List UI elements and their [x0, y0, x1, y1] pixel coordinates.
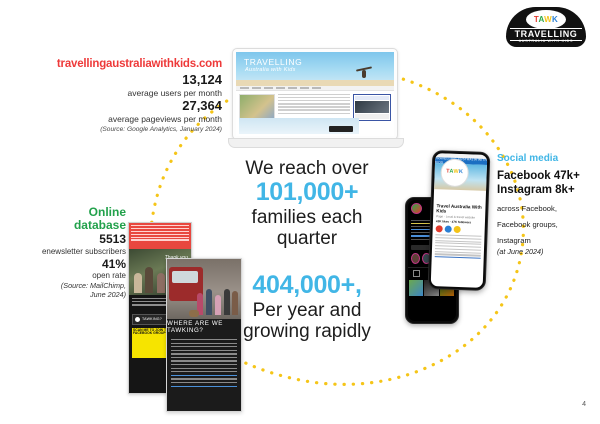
- page-number: 4: [582, 401, 586, 408]
- nav-item: [300, 87, 309, 88]
- logo-tawk-text: TAWK: [534, 16, 558, 24]
- text-line: [171, 368, 237, 369]
- promo-footer: [355, 114, 389, 119]
- family-figure: [134, 273, 142, 293]
- text-line: [171, 360, 237, 361]
- promo-heading: [355, 96, 389, 100]
- annual-figure: 404,000+,: [214, 272, 400, 300]
- person-figure: [206, 289, 212, 315]
- per-year-line: Per year and: [214, 300, 400, 321]
- text-line: [131, 225, 189, 226]
- text-link-line: [171, 386, 237, 387]
- avatar-tawk-text: TAWK: [446, 170, 463, 176]
- centre-message-top: We reach over 101,000+ families each qua…: [214, 158, 400, 249]
- open-rate-value: 41%: [4, 257, 126, 271]
- text-line: [131, 237, 189, 238]
- promo-card-image: [355, 101, 389, 113]
- text-link-line: [171, 375, 237, 376]
- text-line: [171, 364, 237, 365]
- phone-mockup-facebook: TRAVELLING AUSTRALIA WITH KIDS TAWK Trav…: [428, 150, 491, 291]
- database-title-line2: database: [4, 219, 126, 232]
- website-hero-title: TRAVELLING: [244, 57, 302, 67]
- database-source-line2: June 2024): [4, 290, 126, 299]
- laptop-screen-frame: TRAVELLING Australia with Kids: [232, 48, 398, 140]
- facebook-page-counts: 43K likes · 47K followers: [436, 219, 482, 225]
- text-line: [171, 343, 237, 344]
- facebook-page-description: [435, 234, 482, 259]
- text-line: [171, 371, 237, 372]
- grid-tab-icon[interactable]: [413, 270, 420, 277]
- text-line: [278, 94, 350, 95]
- text-line: [131, 239, 189, 240]
- instagram-followers: Instagram 8k+: [497, 183, 597, 197]
- highlight-bubble[interactable]: [411, 253, 420, 264]
- nav-item: [252, 87, 261, 88]
- reaction-icon: [454, 226, 461, 233]
- quarter-line: quarter: [214, 228, 400, 249]
- average-pageviews-label: average pageviews per month: [22, 114, 222, 125]
- website-stats-block: travellingaustraliawithkids.com 13,124 a…: [22, 58, 222, 133]
- social-media-block: Social media Facebook 47k+ Instagram 8k+…: [497, 153, 597, 256]
- tawk-logo: TAWK TRAVELLING AUSTRALIA WITH KIDS: [500, 7, 592, 51]
- text-line: [171, 378, 237, 379]
- text-line: [278, 106, 350, 107]
- social-detail-line1: across Facebook,: [497, 204, 597, 214]
- family-figure: [145, 267, 153, 293]
- social-detail-line2: Facebook groups,: [497, 220, 597, 230]
- laptop-base: [228, 138, 404, 148]
- nav-item: [288, 87, 297, 88]
- website-hero: TRAVELLING Australia with Kids: [236, 52, 394, 86]
- reach-line: We reach over: [214, 158, 400, 179]
- text-line: [278, 97, 350, 98]
- reach-figure: 101,000+: [214, 179, 400, 207]
- sidebar-promo: [353, 94, 391, 121]
- reaction-icon: [445, 226, 452, 233]
- centre-message-bottom: 404,000+, Per year and growing rapidly: [214, 272, 400, 342]
- text-link-line[interactable]: [435, 256, 481, 259]
- profile-avatar: [411, 203, 422, 214]
- text-line: [278, 109, 350, 110]
- logo-brand-text: TRAVELLING: [515, 30, 578, 39]
- growing-line: growing rapidly: [214, 321, 400, 342]
- facebook-reaction-chips: [436, 225, 482, 234]
- text-line: [131, 234, 189, 235]
- badge-icon: [135, 317, 140, 322]
- family-figure: [157, 273, 165, 293]
- article-text: [278, 94, 350, 121]
- logo-tagline: AUSTRALIA WITH KIDS: [510, 40, 582, 44]
- text-line: [131, 228, 189, 229]
- text-line: [171, 382, 237, 383]
- subscribers-label: enewsletter subscribers: [4, 247, 126, 257]
- nav-item: [264, 87, 273, 88]
- article-thumbnail: [239, 94, 275, 120]
- social-source: (at June 2024): [497, 247, 597, 256]
- open-rate-label: open rate: [4, 271, 126, 281]
- laptop-mockup: TRAVELLING Australia with Kids: [228, 48, 402, 152]
- text-line: [278, 103, 350, 104]
- text-line: [171, 346, 237, 347]
- website-domain: travellingaustraliawithkids.com: [22, 58, 222, 70]
- facebook-followers: Facebook 47k+: [497, 169, 597, 183]
- text-line: [171, 350, 237, 351]
- text-line: [171, 353, 237, 354]
- database-source-line1: (Source: MailChimp,: [4, 281, 126, 290]
- nav-item: [276, 87, 285, 88]
- hero-beach-strip: [236, 80, 394, 86]
- website-lower-banner: [239, 118, 359, 134]
- dog-figure: [189, 310, 199, 317]
- website-stats-source: (Source: Google Analytics, January 2024): [22, 126, 222, 133]
- newsletter-red-header: [129, 223, 191, 249]
- text-line: [278, 113, 350, 114]
- average-users-value: 13,124: [22, 73, 222, 88]
- social-detail-line3: Instagram: [497, 236, 597, 246]
- text-line: [171, 357, 237, 358]
- subscribers-value: 5513: [4, 232, 126, 246]
- post-thumbnail[interactable]: [409, 280, 423, 296]
- nav-item: [312, 87, 321, 88]
- logo-oval: TAWK: [526, 10, 566, 29]
- text-line: [131, 231, 189, 232]
- social-media-title: Social media: [497, 153, 597, 164]
- badge-label: TAWKING?: [142, 317, 162, 321]
- website-hero-subtitle: Australia with Kids: [245, 67, 296, 73]
- website-screenshot: TRAVELLING Australia with Kids: [236, 52, 394, 136]
- text-line: [278, 100, 350, 101]
- facebook-screen: TRAVELLING AUSTRALIA WITH KIDS TAWK Trav…: [431, 153, 488, 288]
- database-stats-block: Online database 5513 enewsletter subscri…: [4, 206, 126, 299]
- newsletter-right-body: [167, 335, 241, 393]
- facebook-page-name: Travel Australia With Kids: [436, 203, 482, 215]
- nav-item: [240, 87, 249, 88]
- families-line: families each: [214, 207, 400, 228]
- reaction-icon: [436, 225, 443, 232]
- slide-canvas: TAWK TRAVELLING AUSTRALIA WITH KIDS TRAV…: [0, 0, 600, 424]
- average-pageviews-value: 27,364: [22, 99, 222, 114]
